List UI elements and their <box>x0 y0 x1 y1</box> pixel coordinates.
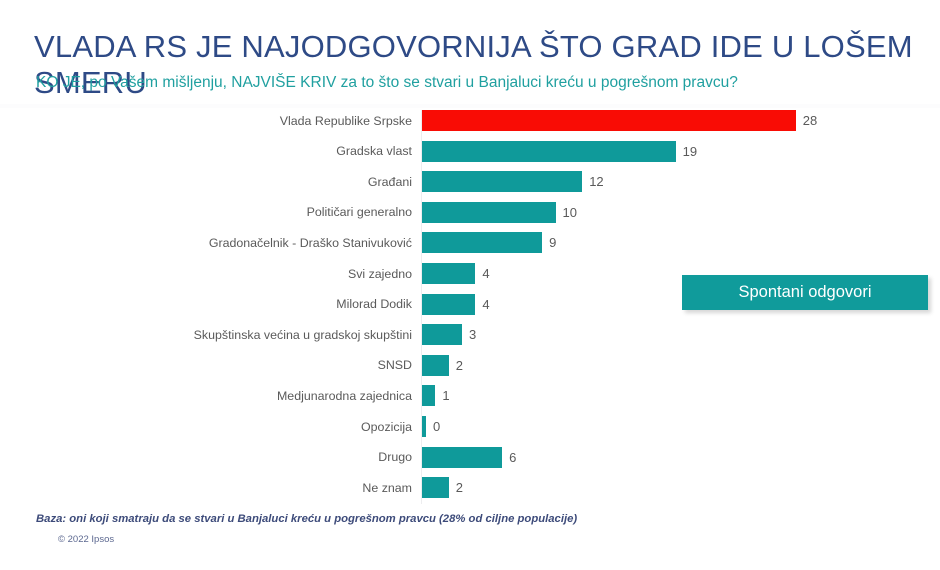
bar-row: Vlada Republike Srpske28 <box>0 110 940 131</box>
chart-question-subtitle: KO JE, po Vašem mišljenju, NAJVIŠE KRIV … <box>36 74 926 93</box>
bar-category-label: Vlada Republike Srpske <box>32 114 412 128</box>
bar-category-label: Medjunarodna zajednica <box>32 389 412 403</box>
bar-row: Gradonačelnik - Draško Stanivuković9 <box>0 232 940 253</box>
bar-value-label: 28 <box>803 110 817 131</box>
bar-category-label: Drugo <box>32 450 412 464</box>
bar-container: 1 <box>422 385 450 406</box>
callout-label: Spontani odgovori <box>738 283 871 302</box>
bar-value-label: 4 <box>482 263 489 284</box>
bar <box>422 324 462 345</box>
bar <box>422 141 676 162</box>
bar-value-label: 2 <box>456 355 463 376</box>
bar <box>422 355 449 376</box>
bar-container: 12 <box>422 171 604 192</box>
bar-row: Građani12 <box>0 171 940 192</box>
bar-container: 9 <box>422 232 556 253</box>
copyright-note: © 2022 Ipsos <box>58 534 114 545</box>
bar-value-label: 1 <box>442 385 449 406</box>
spontaneous-answers-callout: Spontani odgovori <box>682 275 928 310</box>
bar-value-label: 0 <box>433 416 440 437</box>
bar-container: 0 <box>422 416 440 437</box>
bar-value-label: 10 <box>563 202 577 223</box>
bar-value-label: 4 <box>482 294 489 315</box>
bar-value-label: 6 <box>509 447 516 468</box>
bar <box>422 294 475 315</box>
bar-category-label: Gradska vlast <box>32 144 412 158</box>
bar <box>422 232 542 253</box>
bar-row: Političari generalno10 <box>0 202 940 223</box>
slide-canvas: VLADA RS JE NAJODGOVORNIJA ŠTO GRAD IDE … <box>0 0 940 570</box>
bar <box>422 416 426 437</box>
bar <box>422 202 556 223</box>
bar-category-label: Svi zajedno <box>32 267 412 281</box>
bar <box>422 477 449 498</box>
bar-row: Medjunarodna zajednica1 <box>0 385 940 406</box>
bar-category-label: Skupštinska većina u gradskoj skupštini <box>32 328 412 342</box>
bar-value-label: 19 <box>683 141 697 162</box>
bar-category-label: Ne znam <box>32 481 412 495</box>
bar-container: 28 <box>422 110 817 131</box>
bar-row: Drugo6 <box>0 447 940 468</box>
bar-highlight <box>422 110 796 131</box>
bar-row: Opozicija0 <box>0 416 940 437</box>
bar <box>422 263 475 284</box>
bar-category-label: Političari generalno <box>32 205 412 219</box>
bar-value-label: 12 <box>589 171 603 192</box>
bar-container: 3 <box>422 324 476 345</box>
bar-container: 4 <box>422 263 490 284</box>
bar-row: SNSD2 <box>0 355 940 376</box>
bar-category-label: Milorad Dodik <box>32 297 412 311</box>
bar-container: 2 <box>422 477 463 498</box>
bar-container: 4 <box>422 294 490 315</box>
bar-row: Gradska vlast19 <box>0 141 940 162</box>
bar-value-label: 9 <box>549 232 556 253</box>
bar-row: Ne znam2 <box>0 477 940 498</box>
bar-value-label: 3 <box>469 324 476 345</box>
bar <box>422 447 502 468</box>
bar-value-label: 2 <box>456 477 463 498</box>
bar-category-label: Opozicija <box>32 420 412 434</box>
bar <box>422 385 435 406</box>
bar-category-label: Gradonačelnik - Draško Stanivuković <box>32 236 412 250</box>
bar-container: 10 <box>422 202 577 223</box>
bar-row: Skupštinska većina u gradskoj skupštini3 <box>0 324 940 345</box>
bar-container: 2 <box>422 355 463 376</box>
bar <box>422 171 582 192</box>
base-footnote: Baza: oni koji smatraju da se stvari u B… <box>36 513 577 525</box>
bar-category-label: Građani <box>32 175 412 189</box>
bar-container: 19 <box>422 141 697 162</box>
bar-container: 6 <box>422 447 516 468</box>
bar-category-label: SNSD <box>32 358 412 372</box>
